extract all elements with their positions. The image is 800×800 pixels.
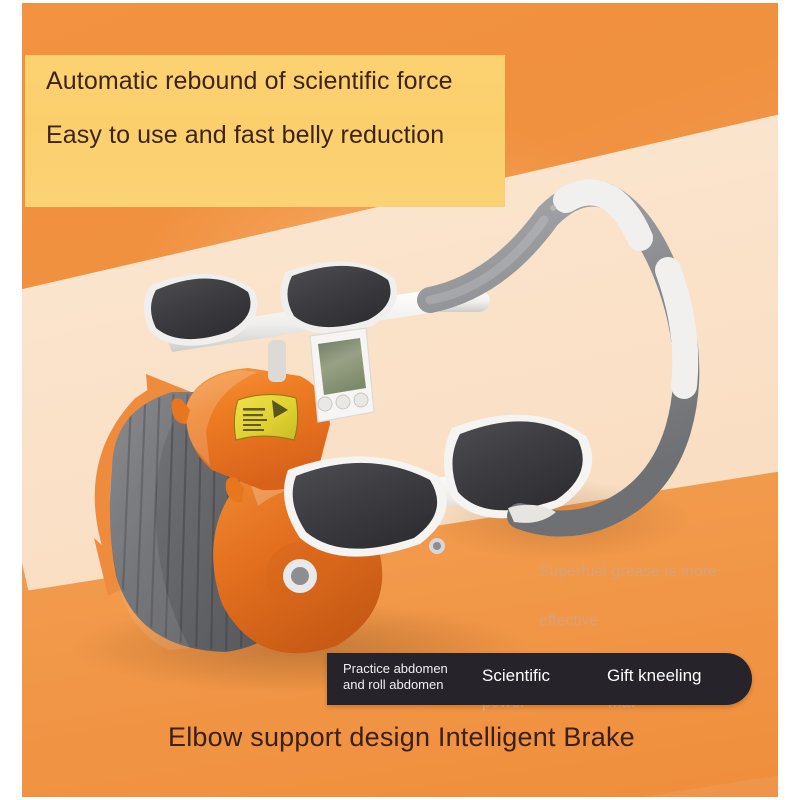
headline-line-2: Easy to use and fast belly reduction	[46, 120, 546, 150]
feature-item-gift-kneeling: Gift kneeling	[607, 666, 702, 686]
feature-item-practice-abdomen-line2: and roll abdomen	[343, 677, 448, 693]
headline-line-1: Automatic rebound of scientific force	[46, 67, 453, 95]
feature-pill-banner: Practice abdomen and roll abdomen Scient…	[327, 653, 752, 705]
side-caption-line-1: Superfuel grease is more	[539, 563, 717, 581]
feature-item-practice-abdomen-line1: Practice abdomen	[343, 661, 448, 677]
headline-text-block: Automatic rebound of scientific force Ea…	[46, 66, 546, 150]
product-advertisement-poster: Automatic rebound of scientific force Ea…	[0, 0, 800, 800]
bottom-title: Elbow support design Intelligent Brake	[168, 722, 635, 753]
side-caption-line-2: effective	[539, 612, 598, 630]
feature-item-scientific: Scientific	[482, 666, 550, 686]
feature-item-practice-abdomen: Practice abdomen and roll abdomen	[343, 661, 448, 693]
